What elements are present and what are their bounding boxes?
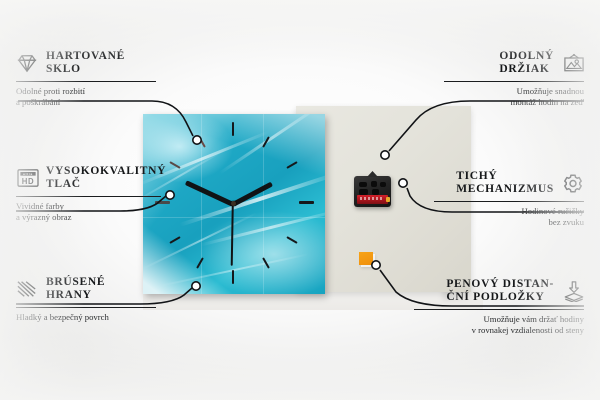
feature-durable-hanger: ODOLNÝ DRŽIAK Umožňuje snadnou montáž ho… — [444, 50, 584, 108]
clock-minute-hand — [185, 180, 234, 207]
feature-silent-mechanism: TICHÝ MECHANIZMUS Hodinové ručičky bez z… — [434, 170, 584, 228]
divider — [16, 81, 156, 82]
picture-frame-icon — [562, 53, 584, 73]
hatch-lines-icon — [16, 279, 38, 299]
feature-desc: Vividné farby a výrazný obraz — [16, 201, 161, 223]
feature-title: VYSOKOKVALITNÝ TLAČ — [46, 165, 166, 191]
divider — [414, 309, 584, 310]
ultra-hd-icon: ultra HD — [16, 168, 38, 188]
divider — [444, 81, 584, 82]
clock-center-hub — [231, 201, 236, 206]
clock-tick-4 — [286, 236, 297, 244]
feature-ground-edges: BRÚSENÉ HRANY Hladký a bezpečný povrch — [16, 276, 156, 323]
feature-tempered-glass: HARTOVANÉ SKLO Odolné proti rozbití a po… — [16, 50, 156, 108]
feature-desc: Umožňuje snadnou montáž hodin na zeď — [444, 86, 584, 108]
clock-tick-3 — [299, 201, 314, 204]
divider — [16, 307, 156, 308]
clock-tick-8 — [169, 236, 180, 244]
press-down-layers-icon — [562, 281, 584, 301]
clock-tick-6 — [232, 270, 234, 284]
battery — [357, 195, 388, 204]
clock-tick-12 — [232, 122, 234, 136]
clock-tick-2 — [286, 161, 297, 169]
diamond-icon — [16, 53, 38, 73]
svg-text:HD: HD — [22, 177, 35, 186]
svg-text:ultra: ultra — [23, 172, 33, 176]
feature-title: PENOVÝ DISTAN- ČNÍ PODLOŽKY — [446, 278, 554, 304]
feature-title: HARTOVANÉ SKLO — [46, 50, 125, 76]
feature-desc: Odolné proti rozbití a poškrábání — [16, 86, 156, 108]
gear-icon — [562, 173, 584, 193]
feature-foam-spacers: PENOVÝ DISTAN- ČNÍ PODLOŽKY Umožňuje vám… — [414, 278, 584, 336]
feature-desc: Hladký a bezpečný povrch — [16, 312, 156, 323]
feature-high-quality-print: ultra HD VYSOKOKVALITNÝ TLAČ Vividné far… — [16, 165, 161, 223]
product-photo — [143, 106, 471, 302]
wall-clock — [143, 114, 325, 294]
foam-spacer-pad — [359, 252, 373, 265]
feature-title: ODOLNÝ DRŽIAK — [499, 50, 554, 76]
clock-mechanism — [354, 176, 391, 207]
clock-tick-7 — [196, 257, 204, 268]
feature-desc: Hodinové ručičky bez zvuku — [434, 206, 584, 228]
feature-title: BRÚSENÉ HRANY — [46, 276, 105, 302]
divider — [434, 201, 584, 202]
feature-title: TICHÝ MECHANIZMUS — [456, 170, 554, 196]
feature-desc: Umožňuje vám držať hodiny v rovnakej vzd… — [414, 314, 584, 336]
promo-infographic: HARTOVANÉ SKLO Odolné proti rozbití a po… — [0, 0, 600, 400]
divider — [16, 196, 161, 197]
